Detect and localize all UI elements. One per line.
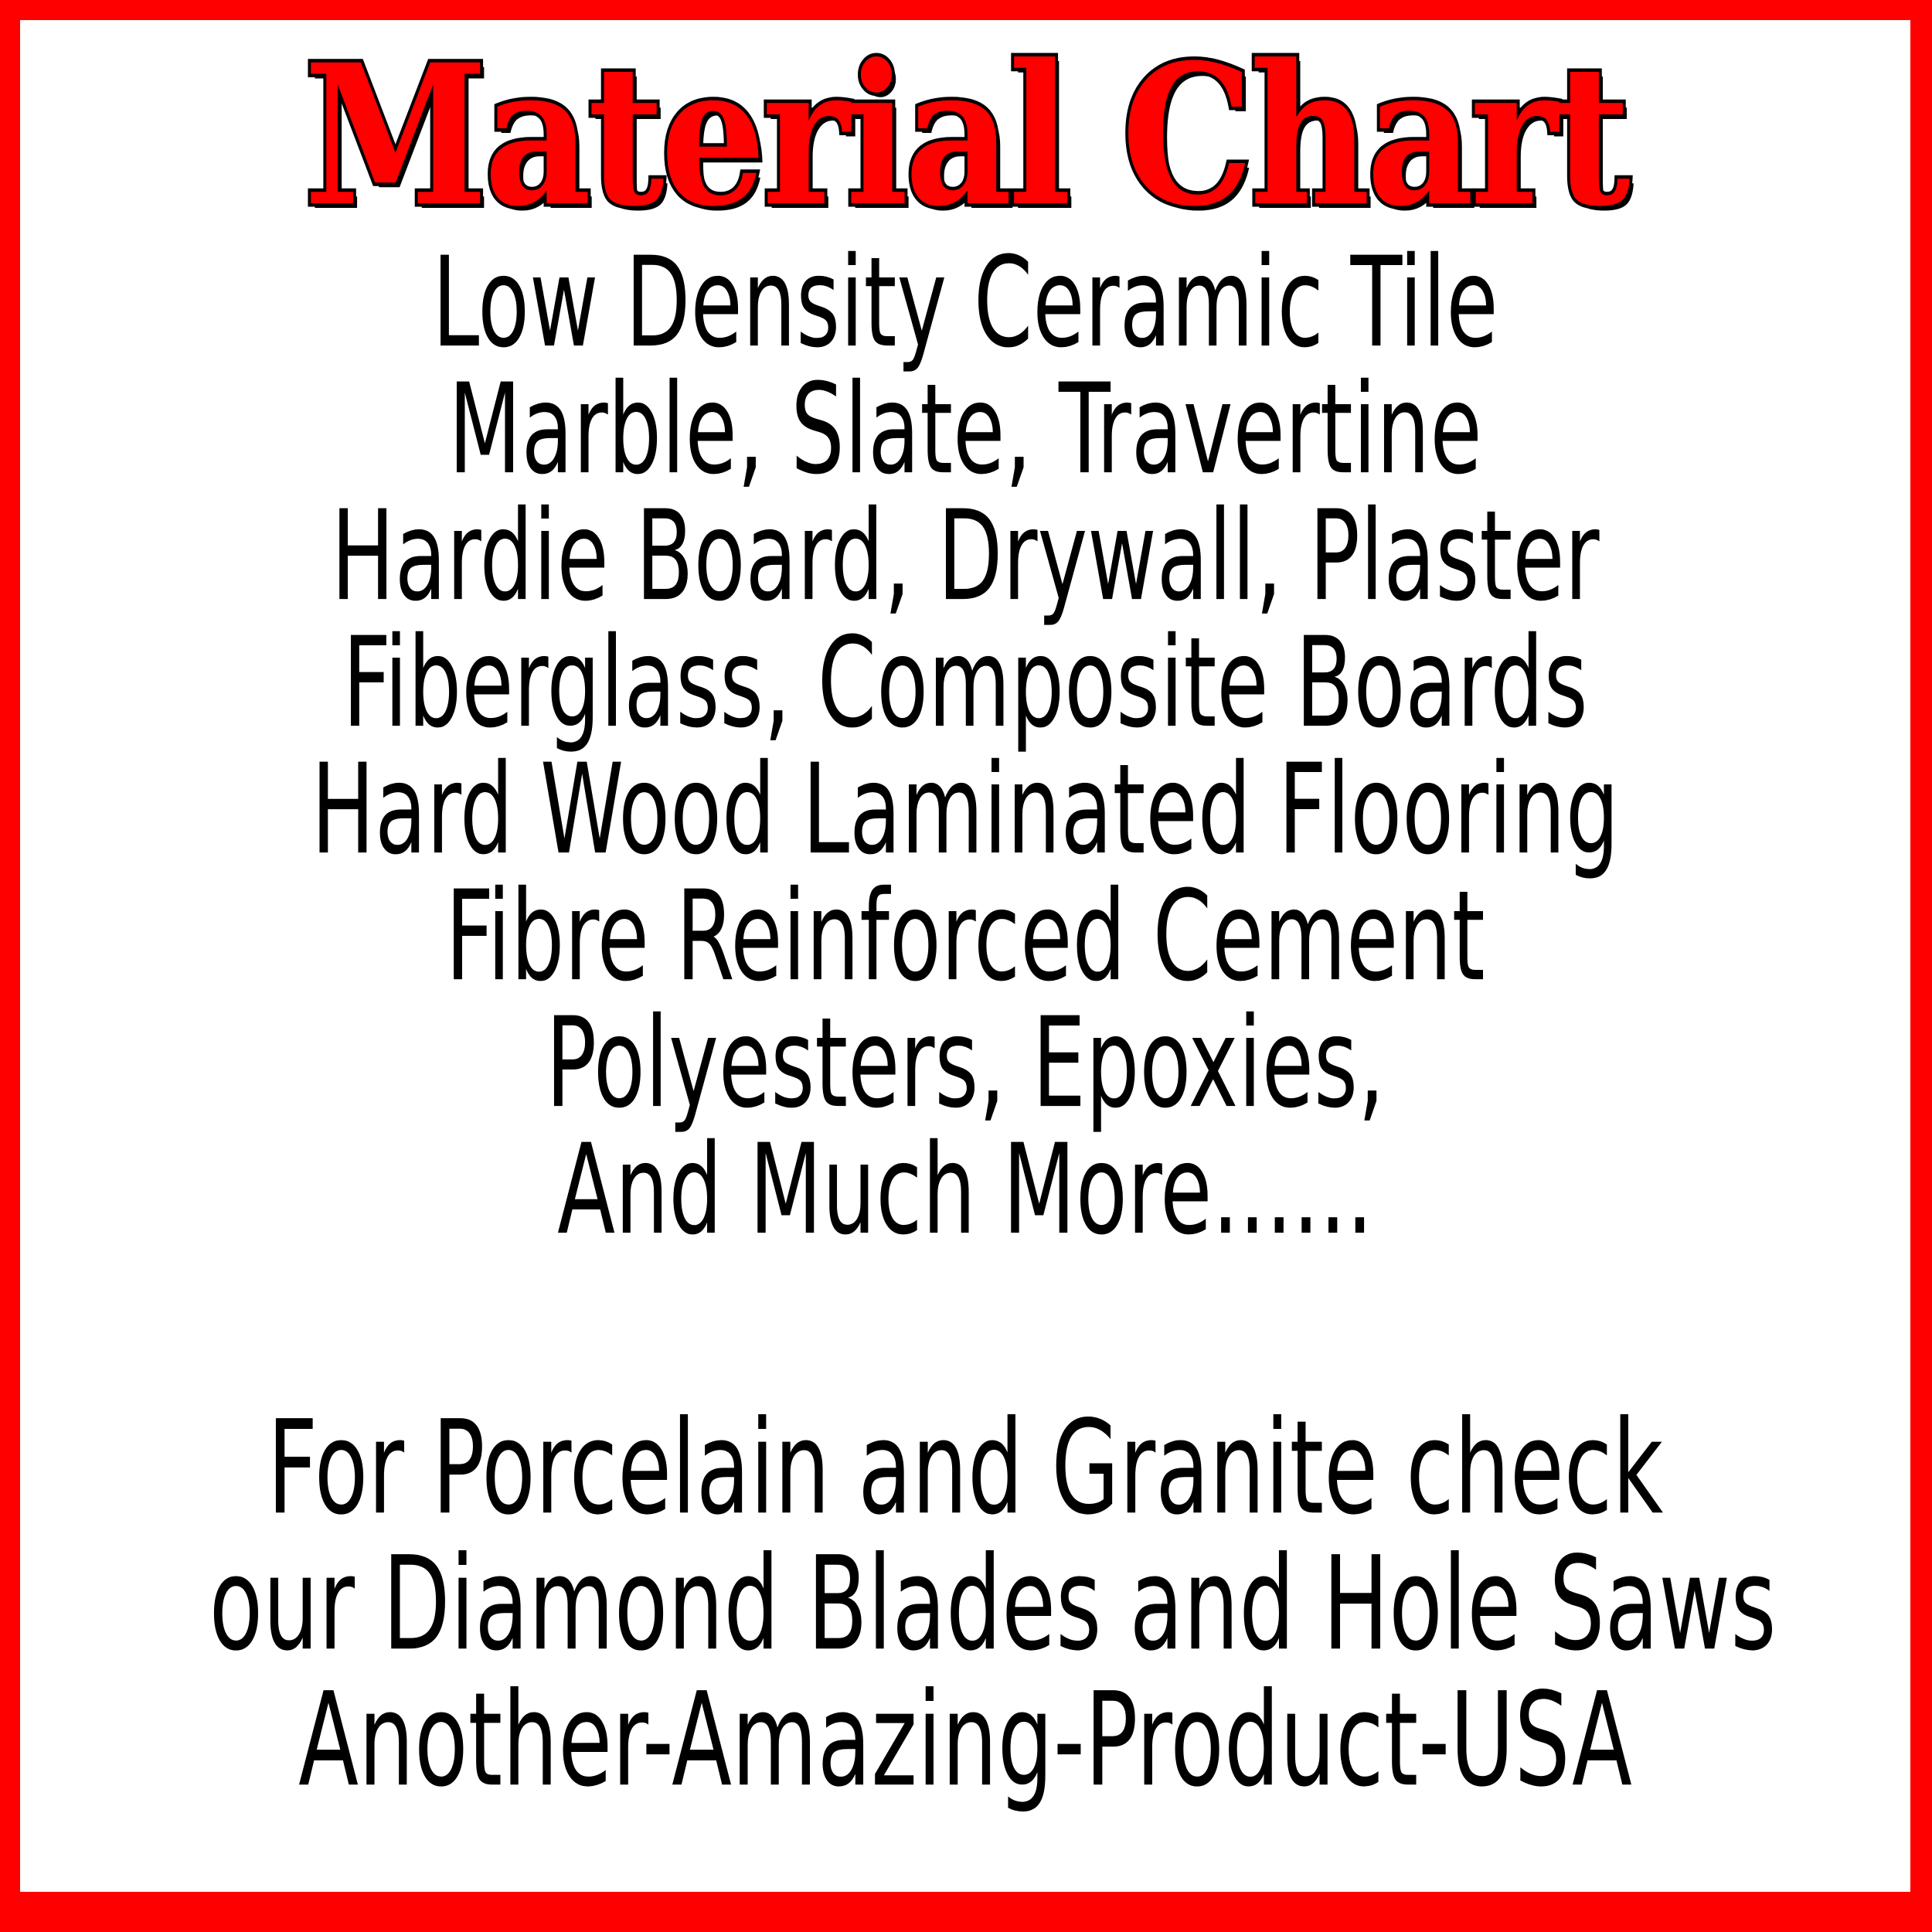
brand-line: Another-Amazing-Product-USA [209, 1668, 1722, 1813]
material-list-item: Hard Wood Laminated Flooring [209, 743, 1722, 877]
material-list-item: Fiberglass, Composite Boards [209, 616, 1722, 750]
title-container: Material Chart [20, 39, 1910, 233]
border-bottom [0, 1892, 1932, 1932]
material-list-item: Hardie Board, Drywall, Plaster [209, 489, 1722, 624]
footer-line: For Porcelain and Granite check [209, 1396, 1722, 1541]
material-list-item: Polyesters, Epoxies, [209, 996, 1722, 1131]
footer-line: our Diamond Blades and Hole Saws [209, 1532, 1722, 1677]
page-title: Material Chart [304, 39, 1626, 232]
border-top [0, 0, 1932, 20]
border-left [0, 0, 20, 1932]
border-right [1910, 0, 1932, 1932]
material-list: Low Density Ceramic Tile Marble, Slate, … [20, 240, 1910, 1253]
material-chart-poster: Material Chart Low Density Ceramic Tile … [0, 0, 1932, 1932]
material-list-item: Fibre Reinforced Cement [209, 869, 1722, 1004]
footer-note: For Porcelain and Granite check our Diam… [20, 1400, 1910, 1808]
material-list-item: Marble, Slate, Travertine [209, 362, 1722, 497]
poster-content: Material Chart Low Density Ceramic Tile … [20, 20, 1910, 1892]
material-list-item: Low Density Ceramic Tile [209, 236, 1722, 370]
material-list-item: And Much More...... [209, 1123, 1722, 1257]
